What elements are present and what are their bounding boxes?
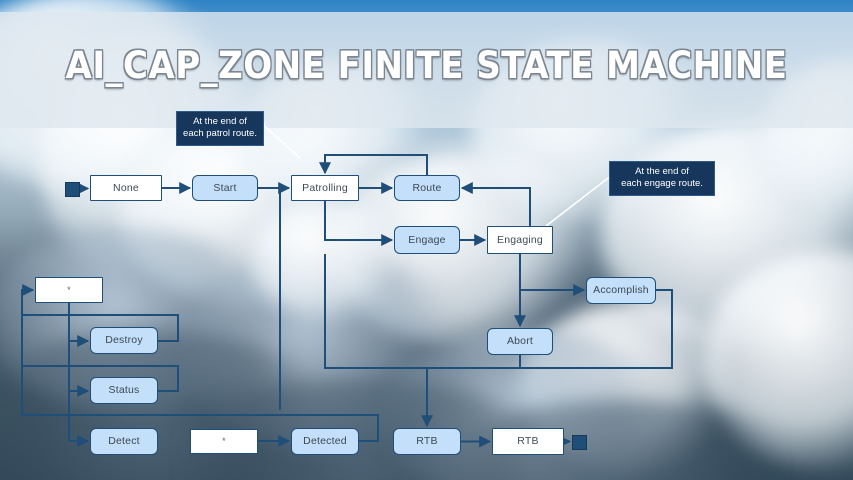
state-label: Abort bbox=[507, 336, 533, 347]
state-node-start[interactable]: Start bbox=[192, 175, 258, 201]
slide-canvas: AI_CAP_ZONE FINITE STATE MACHINE bbox=[0, 0, 853, 480]
state-node-wildcard-top[interactable]: * bbox=[35, 277, 103, 303]
state-label: Detect bbox=[108, 436, 140, 447]
state-node-detected[interactable]: Detected bbox=[291, 428, 359, 455]
state-label: Detected bbox=[303, 436, 347, 447]
state-label: Engage bbox=[408, 235, 445, 246]
end-state-marker bbox=[572, 435, 587, 450]
state-label: Destroy bbox=[105, 335, 143, 346]
state-node-status[interactable]: Status bbox=[90, 377, 158, 404]
state-node-wildcard-bottom[interactable]: * bbox=[190, 429, 258, 454]
state-node-accomplish[interactable]: Accomplish bbox=[586, 277, 656, 304]
state-node-engaging[interactable]: Engaging bbox=[487, 226, 553, 254]
state-label: Start bbox=[213, 183, 236, 194]
state-node-detect[interactable]: Detect bbox=[90, 428, 158, 455]
state-label: Patrolling bbox=[302, 183, 348, 194]
callout-engage-route: At the end of each engage route. bbox=[609, 161, 715, 196]
state-node-rtb-white[interactable]: RTB bbox=[492, 428, 564, 455]
state-node-rtb-blue[interactable]: RTB bbox=[393, 428, 461, 455]
state-node-engage[interactable]: Engage bbox=[394, 226, 460, 254]
state-label: RTB bbox=[416, 436, 437, 447]
state-node-destroy[interactable]: Destroy bbox=[90, 327, 158, 354]
state-label: * bbox=[67, 286, 71, 295]
state-label: Engaging bbox=[497, 235, 543, 246]
state-node-patrolling[interactable]: Patrolling bbox=[291, 175, 359, 201]
state-node-abort[interactable]: Abort bbox=[487, 328, 553, 355]
start-state-marker bbox=[65, 182, 80, 197]
state-label: None bbox=[113, 183, 139, 194]
state-label: RTB bbox=[517, 436, 538, 447]
state-node-none[interactable]: None bbox=[90, 175, 162, 201]
state-label: * bbox=[222, 437, 226, 446]
state-label: Status bbox=[109, 385, 140, 396]
state-node-route[interactable]: Route bbox=[394, 175, 460, 201]
state-label: Accomplish bbox=[593, 285, 649, 296]
callout-patrol-route: At the end of each patrol route. bbox=[176, 111, 264, 146]
state-label: Route bbox=[412, 183, 441, 194]
state-machine-diagram: None Start Patrolling Route Engage Engag… bbox=[0, 0, 853, 480]
